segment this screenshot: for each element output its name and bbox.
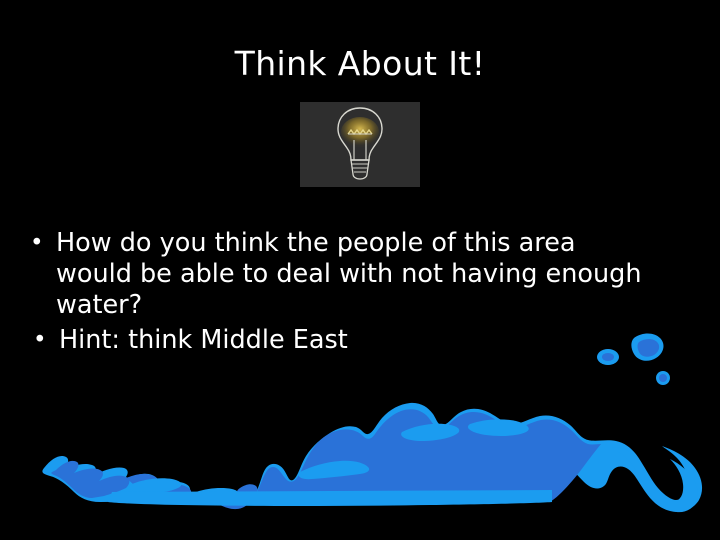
bullet-item: • How do you think the people of this ar… — [30, 228, 680, 321]
water-droplet — [656, 371, 670, 385]
lightbulb-image[interactable] — [300, 102, 420, 187]
bullet-marker-icon: • — [33, 325, 59, 356]
bullet-text: Hint: think Middle East — [59, 325, 659, 356]
bullet-marker-icon: • — [30, 228, 56, 259]
slide-canvas: Think About It! — [0, 0, 720, 540]
lightbulb-icon — [300, 102, 420, 187]
slide-title: Think About It! — [0, 44, 720, 84]
bullet-item: • Hint: think Middle East — [33, 325, 680, 356]
content-placeholder[interactable]: • How do you think the people of this ar… — [30, 228, 680, 356]
bullet-text: How do you think the people of this area… — [56, 228, 648, 321]
water-droplet-core — [659, 374, 667, 382]
